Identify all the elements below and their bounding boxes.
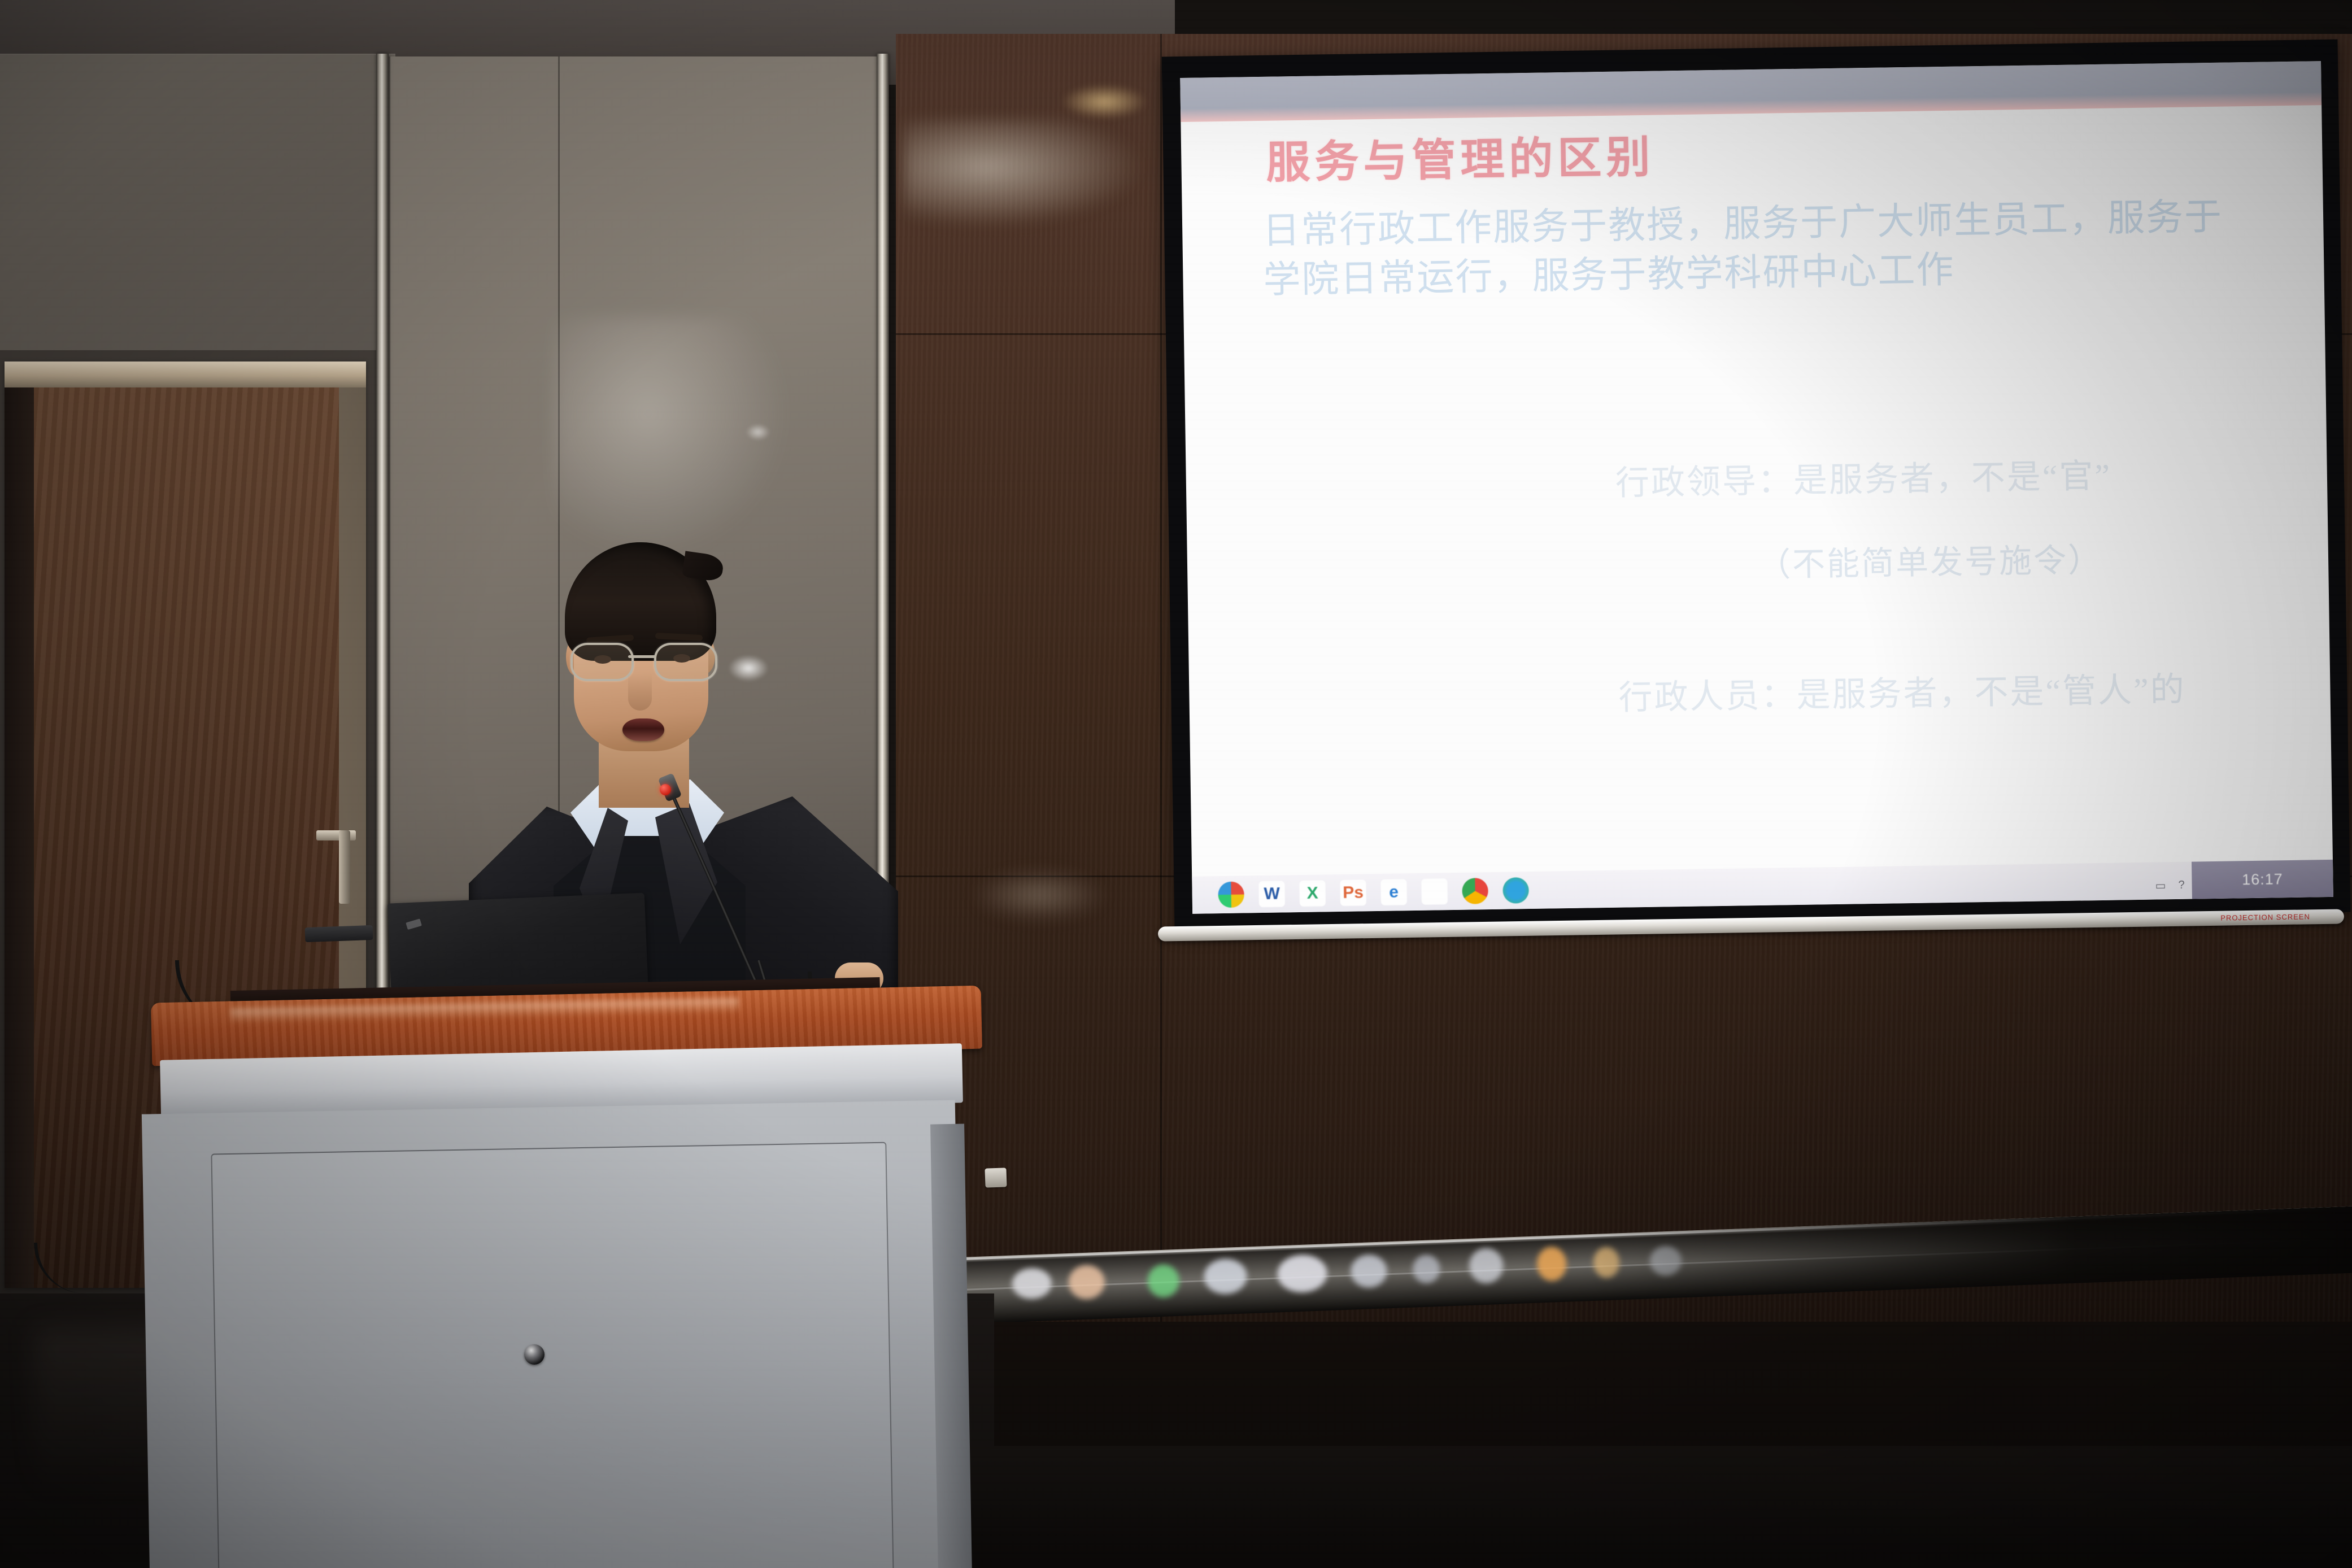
- tray-icon-battery[interactable]: ▭: [2155, 878, 2166, 892]
- lens-right: [654, 643, 717, 681]
- mouth: [622, 718, 664, 741]
- chrome-icon[interactable]: [1462, 878, 1488, 904]
- door-frame-header: [5, 361, 366, 387]
- microphone-base: [305, 925, 373, 942]
- podium-cabinet-door[interactable]: [211, 1142, 894, 1568]
- roller-bar-label: PROJECTION SCREEN: [2220, 912, 2310, 922]
- wall-socket[interactable]: [985, 1168, 1007, 1187]
- eyeglasses: [569, 643, 715, 678]
- podium-side-face: [930, 1124, 972, 1568]
- slide-paragraph: 日常行政工作服务于教授，服务于广大师生员工，服务于学院日常运行，服务于教学科研中…: [1262, 192, 2258, 305]
- projection-screen-frame: 服务与管理的区别 日常行政工作服务于教授，服务于广大师生员工，服务于学院日常运行…: [1162, 40, 2351, 930]
- media-player-icon[interactable]: [1502, 877, 1529, 904]
- glasses-bridge: [628, 655, 656, 658]
- lens-left: [570, 643, 634, 681]
- wall-smudge-small: [746, 424, 770, 441]
- slide-line-admin-leader: 行政领导：是服务者，不是“官”: [1615, 448, 2111, 505]
- word-icon[interactable]: W: [1258, 881, 1285, 907]
- wood-gloss-highlight: [904, 119, 1141, 226]
- hair-wisp: [682, 551, 725, 582]
- nose: [628, 673, 652, 711]
- door-recess-shadow: [5, 387, 37, 1288]
- internet-explorer-icon[interactable]: e: [1380, 879, 1407, 905]
- wall-pilaster-left: [376, 54, 389, 1048]
- slide-paragraph-text: 日常行政工作服务于教授，服务于广大师生员工，服务于学院日常运行，服务于教学科研中…: [1262, 197, 2223, 301]
- slide-title: 服务与管理的区别: [1266, 122, 1656, 191]
- slide-line-parenthetical: （不能简单发号施令）: [1757, 533, 2102, 586]
- blank-app-icon[interactable]: [1421, 878, 1448, 905]
- slide-content: 服务与管理的区别 日常行政工作服务于教授，服务于广大师生员工，服务于学院日常运行…: [1180, 61, 2333, 914]
- floor-right: [938, 1446, 2352, 1568]
- start-orb-icon[interactable]: [1218, 882, 1244, 908]
- tray-icon-help[interactable]: ?: [2178, 879, 2184, 892]
- lock-icon[interactable]: [524, 1344, 545, 1365]
- wood-gloss-lower: [972, 870, 1107, 921]
- slide-line-admin-staff: 行政人员：是服务者，不是“管人”的: [1618, 662, 2186, 720]
- projection-screen-surface[interactable]: 服务与管理的区别 日常行政工作服务于教授，服务于广大师生员工，服务于学院日常运行…: [1180, 61, 2333, 914]
- door-handle-bar[interactable]: [339, 830, 350, 904]
- microphone-led-icon: [660, 784, 671, 795]
- lecture-hall-scene: 服务与管理的区别 日常行政工作服务于教授，服务于广大师生员工，服务于学院日常运行…: [0, 0, 2352, 1568]
- photoshop-icon[interactable]: Ps: [1340, 879, 1366, 906]
- wood-gloss-spot: [1062, 85, 1147, 119]
- excel-icon[interactable]: X: [1299, 880, 1326, 907]
- clock-time: 16:17: [2242, 870, 2283, 888]
- taskbar-clock[interactable]: 16:17: [2192, 860, 2333, 899]
- podium[interactable]: [151, 994, 982, 1568]
